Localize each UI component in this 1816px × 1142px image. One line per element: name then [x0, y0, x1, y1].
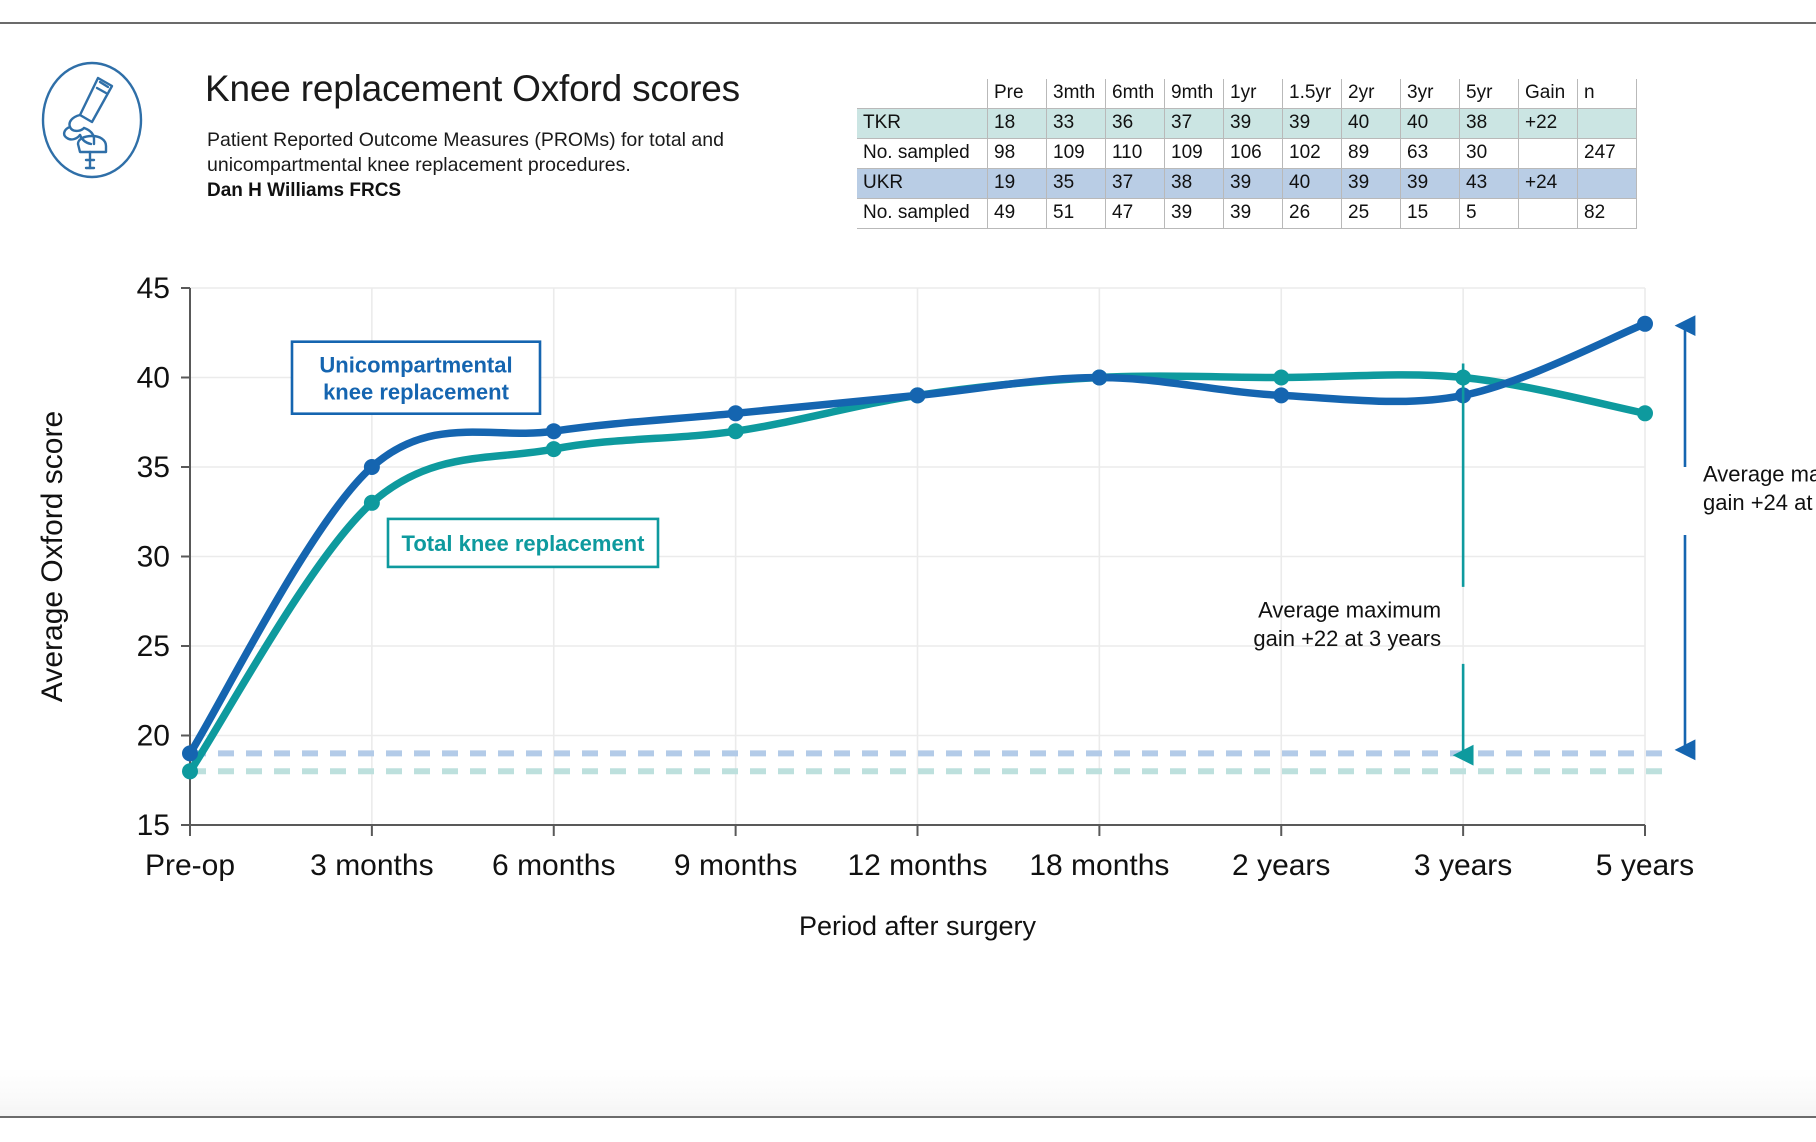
- legend-label-tkr: Total knee replacement: [402, 531, 646, 556]
- table-row-label: No. sampled: [857, 199, 988, 229]
- table-cell: 39: [1224, 199, 1283, 229]
- table-header-row: Pre3mth6mth9mth1yr1.5yr2yr3yr5yrGainn: [857, 79, 1637, 109]
- table-column-header: Gain: [1519, 79, 1578, 109]
- table-column-header: 3mth: [1047, 79, 1106, 109]
- x-axis-tick-label: 9 months: [674, 849, 797, 882]
- table-cell: 39: [1165, 199, 1224, 229]
- table-cell: 39: [1283, 109, 1342, 139]
- data-point-tkr: [1637, 405, 1653, 421]
- table-cell: 18: [988, 109, 1047, 139]
- data-point-ukr: [728, 405, 744, 421]
- table-row: No. sampled98109110109106102896330247: [857, 139, 1637, 169]
- table-cell: 39: [1224, 169, 1283, 199]
- data-point-ukr: [1273, 387, 1289, 403]
- table-cell: [1519, 139, 1578, 169]
- data-point-tkr: [182, 763, 198, 779]
- table-cell: 39: [1342, 169, 1401, 199]
- tkr-gain-annotation-line2: gain +22 at 3 years: [1253, 626, 1441, 651]
- x-axis-tick-label: Pre-op: [145, 849, 235, 882]
- data-point-ukr: [364, 459, 380, 475]
- y-axis-tick-label: 20: [137, 720, 170, 753]
- table-cell: 35: [1047, 169, 1106, 199]
- tkr-gain-annotation-line1: Average maximum: [1258, 597, 1441, 622]
- table-column-header: 2yr: [1342, 79, 1401, 109]
- ukr-gain-annotation-line1: Average maximum: [1703, 461, 1816, 486]
- data-point-ukr: [1637, 316, 1653, 332]
- y-axis-tick-label: 45: [137, 272, 170, 305]
- table-cell: 30: [1460, 139, 1519, 169]
- table-cell: 39: [1401, 169, 1460, 199]
- table-column-header: 5yr: [1460, 79, 1519, 109]
- table-cell: 89: [1342, 139, 1401, 169]
- table-column-header: 9mth: [1165, 79, 1224, 109]
- table-row-label: No. sampled: [857, 139, 988, 169]
- data-point-ukr: [910, 387, 926, 403]
- table-cell: 43: [1460, 169, 1519, 199]
- table-cell: 5: [1460, 199, 1519, 229]
- table-row: No. sampled4951473939262515582: [857, 199, 1637, 229]
- table-cell: 26: [1283, 199, 1342, 229]
- y-axis-tick-label: 25: [137, 630, 170, 663]
- table-cell: [1519, 199, 1578, 229]
- page-subtitle: Patient Reported Outcome Measures (PROMs…: [207, 128, 777, 178]
- ukr-gain-annotation-line2: gain +24 at 5 years: [1703, 490, 1816, 515]
- summary-table: Pre3mth6mth9mth1yr1.5yr2yr3yr5yrGainnTKR…: [857, 79, 1637, 229]
- table-column-header: Pre: [988, 79, 1047, 109]
- table-column-header: 1yr: [1224, 79, 1283, 109]
- x-axis-tick-label: 6 months: [492, 849, 615, 882]
- data-point-ukr: [546, 423, 562, 439]
- data-point-tkr: [1273, 370, 1289, 386]
- table-cell: 40: [1283, 169, 1342, 199]
- table-cell: 40: [1342, 109, 1401, 139]
- x-axis-tick-label: 3 months: [310, 849, 433, 882]
- table-cell: 63: [1401, 139, 1460, 169]
- legend-label-ukr-line1: Unicompartmental: [319, 353, 512, 378]
- author-name: Dan H Williams FRCS: [207, 180, 401, 202]
- y-axis-tick-label: 30: [137, 541, 170, 574]
- table-cell: 37: [1165, 109, 1224, 139]
- x-axis-title: Period after surgery: [799, 911, 1037, 941]
- table-cell: 39: [1224, 109, 1283, 139]
- table-cell: 25: [1342, 199, 1401, 229]
- legend-label-ukr-line2: knee replacement: [323, 380, 510, 405]
- table-cell: 110: [1106, 139, 1165, 169]
- oxford-score-chart: 15202530354045Pre-op3 months6 months9 mo…: [0, 230, 1816, 1040]
- table-corner-cell: [857, 79, 988, 109]
- table-row-label: TKR: [857, 109, 988, 139]
- table-cell: 49: [988, 199, 1047, 229]
- table-cell: 19: [988, 169, 1047, 199]
- table-cell: 47: [1106, 199, 1165, 229]
- table-row-label: UKR: [857, 169, 988, 199]
- y-axis-title: Average Oxford score: [36, 411, 69, 702]
- table-cell: 98: [988, 139, 1047, 169]
- data-point-tkr: [546, 441, 562, 457]
- y-axis-tick-label: 35: [137, 451, 170, 484]
- table-cell: 102: [1283, 139, 1342, 169]
- y-axis-tick-label: 15: [137, 809, 170, 842]
- table-row: UKR193537383940393943+24: [857, 169, 1637, 199]
- table-cell: 40: [1401, 109, 1460, 139]
- page-title: Knee replacement Oxford scores: [205, 68, 740, 110]
- table-cell: +22: [1519, 109, 1578, 139]
- table-column-header: 1.5yr: [1283, 79, 1342, 109]
- table-cell: 51: [1047, 199, 1106, 229]
- data-point-ukr: [1091, 370, 1107, 386]
- table-cell: 109: [1047, 139, 1106, 169]
- table-cell: [1578, 109, 1637, 139]
- table-cell: 109: [1165, 139, 1224, 169]
- table-cell: +24: [1519, 169, 1578, 199]
- table-column-header: 3yr: [1401, 79, 1460, 109]
- table-cell: 37: [1106, 169, 1165, 199]
- table-cell: 82: [1578, 199, 1637, 229]
- data-point-tkr: [364, 495, 380, 511]
- footer-band: [0, 1068, 1816, 1116]
- table-cell: 38: [1165, 169, 1224, 199]
- table-cell: 247: [1578, 139, 1637, 169]
- x-axis-tick-label: 2 years: [1232, 849, 1330, 882]
- table-cell: 33: [1047, 109, 1106, 139]
- table-column-header: n: [1578, 79, 1637, 109]
- table-row: TKR183336373939404038+22: [857, 109, 1637, 139]
- table-cell: 15: [1401, 199, 1460, 229]
- y-axis-tick-label: 40: [137, 362, 170, 395]
- table-column-header: 6mth: [1106, 79, 1165, 109]
- table-cell: 36: [1106, 109, 1165, 139]
- table-cell: 38: [1460, 109, 1519, 139]
- data-point-tkr: [728, 423, 744, 439]
- x-axis-tick-label: 5 years: [1596, 849, 1694, 882]
- table-cell: [1578, 169, 1637, 199]
- knee-joint-icon: [36, 56, 148, 184]
- x-axis-tick-label: 18 months: [1029, 849, 1169, 882]
- x-axis-tick-label: 3 years: [1414, 849, 1512, 882]
- table-cell: 106: [1224, 139, 1283, 169]
- data-point-ukr: [182, 745, 198, 761]
- x-axis-tick-label: 12 months: [847, 849, 987, 882]
